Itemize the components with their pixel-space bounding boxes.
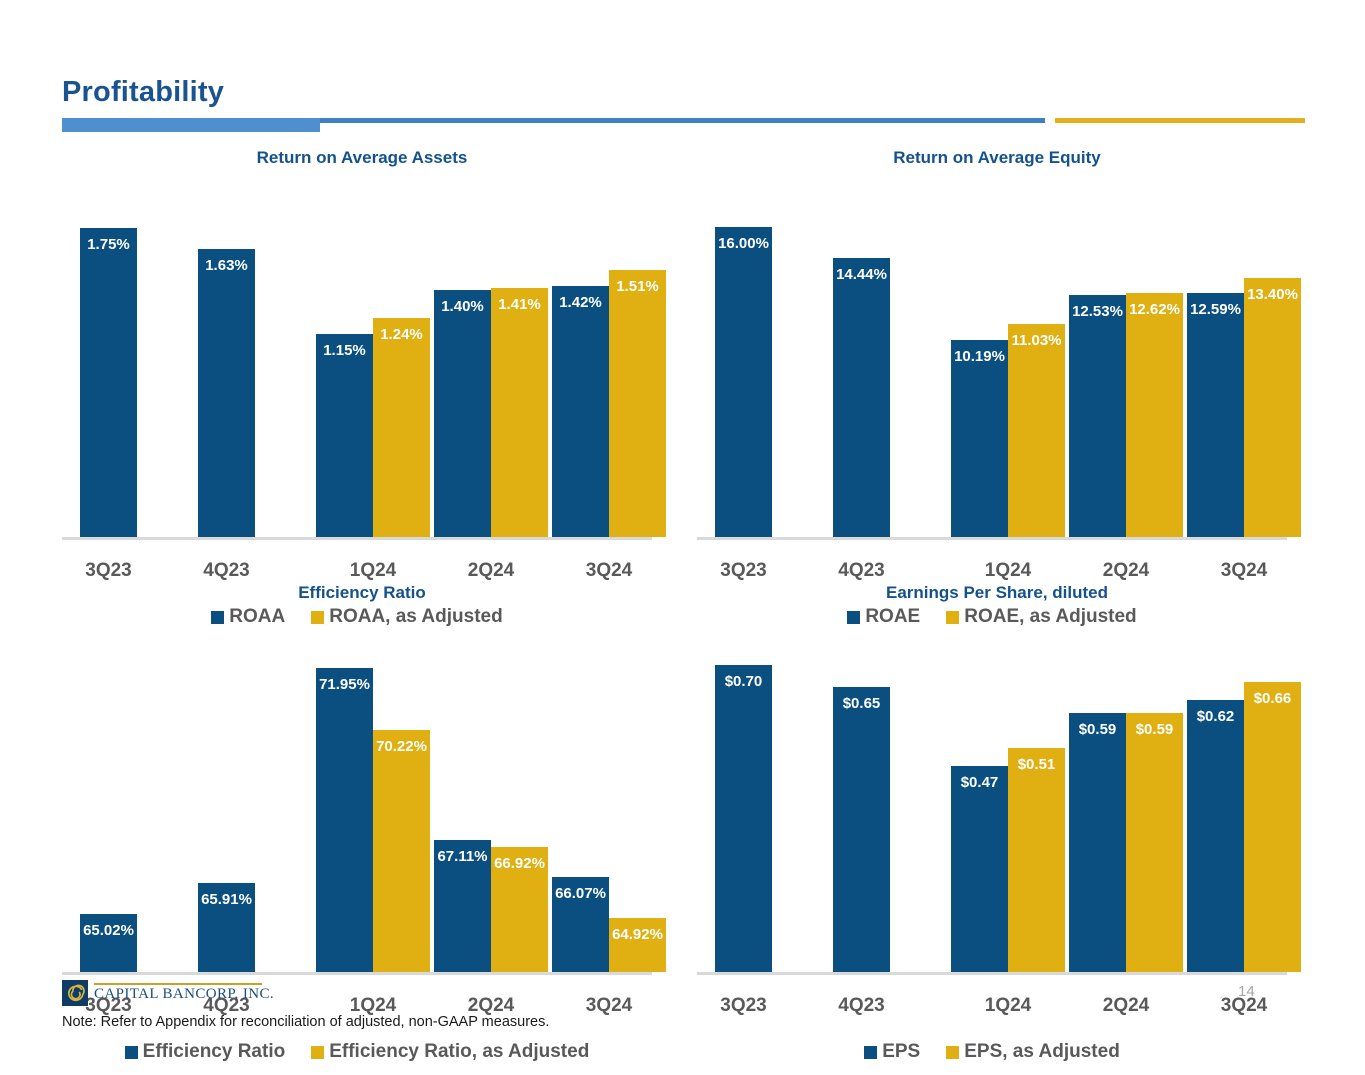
bar-group-3q23: 1.75%: [80, 207, 137, 537]
bar-value-label: 1.15%: [316, 343, 373, 358]
x-axis-label-3q24: 3Q24: [1194, 560, 1294, 582]
legend-label: EPS: [882, 1041, 920, 1063]
legend-item-base[interactable]: Efficiency Ratio: [125, 1041, 286, 1063]
legend-swatch-icon: [311, 1046, 324, 1059]
chart-title-roae: Return on Average Equity: [697, 148, 1297, 168]
footnote: Note: Refer to Appendix for reconciliati…: [62, 1014, 549, 1030]
x-axis-label-2q24: 2Q24: [441, 560, 541, 582]
x-axis-label-3q24: 3Q24: [559, 560, 659, 582]
chart-title-efficiency: Efficiency Ratio: [62, 583, 662, 603]
bar-value-label: 12.62%: [1126, 302, 1183, 317]
legend-item-base[interactable]: EPS: [864, 1041, 920, 1063]
x-axis-label-4q23: 4Q23: [177, 560, 277, 582]
plot-area-eps: $0.70$0.65$0.47$0.51$0.59$0.59$0.62$0.66: [697, 645, 1287, 975]
bar-value-label: 1.24%: [373, 327, 430, 342]
bar-group-1q24: 71.95%70.22%: [316, 642, 430, 972]
bar-value-label: 10.19%: [951, 349, 1008, 364]
bar-group-2q24: 67.11%66.92%: [434, 642, 548, 972]
header-rule-thick-blue: [62, 118, 320, 132]
x-axis-label-2q24: 2Q24: [1076, 995, 1176, 1017]
bar-eps-1q24-base[interactable]: $0.47: [951, 766, 1008, 972]
bar-group-1q24: 10.19%11.03%: [951, 207, 1065, 537]
bar-value-label: 12.59%: [1187, 302, 1244, 317]
x-axis-label-3q23: 3Q23: [694, 995, 794, 1017]
bar-value-label: $0.65: [833, 696, 890, 711]
bar-group-2q24: $0.59$0.59: [1069, 642, 1183, 972]
bar-eps-3q24-adjusted[interactable]: $0.66: [1244, 682, 1301, 972]
bar-group-3q23: $0.70: [715, 642, 772, 972]
bar-value-label: 1.40%: [434, 299, 491, 314]
bar-value-label: 1.63%: [198, 258, 255, 273]
bar-eps-2q24-base[interactable]: $0.59: [1069, 713, 1126, 972]
bar-roaa-3q23-base[interactable]: 1.75%: [80, 228, 137, 537]
legend-item-adjusted[interactable]: EPS, as Adjusted: [946, 1041, 1120, 1063]
bar-efficiency-3q24-base[interactable]: 66.07%: [552, 877, 609, 972]
bar-value-label: $0.59: [1126, 722, 1183, 737]
page-title: Profitability: [62, 76, 224, 109]
x-axis-label-3q23: 3Q23: [59, 560, 159, 582]
x-axis-line: [697, 972, 1287, 975]
bar-efficiency-3q24-adjusted[interactable]: 64.92%: [609, 918, 666, 972]
chart-legend-efficiency: Efficiency RatioEfficiency Ratio, as Adj…: [62, 1041, 652, 1063]
bar-roaa-3q24-base[interactable]: 1.42%: [552, 286, 609, 537]
bar-efficiency-2q24-base[interactable]: 67.11%: [434, 840, 491, 972]
bar-roae-1q24-adjusted[interactable]: 11.03%: [1008, 324, 1065, 537]
bar-efficiency-3q23-base[interactable]: 65.02%: [80, 914, 137, 972]
chart-legend-eps: EPSEPS, as Adjusted: [697, 1041, 1287, 1063]
bar-value-label: 1.41%: [491, 297, 548, 312]
bar-value-label: 12.53%: [1069, 304, 1126, 319]
bar-value-label: $0.51: [1008, 757, 1065, 772]
bar-group-4q23: 65.91%: [198, 642, 255, 972]
header-rule-thin-gold: [1055, 118, 1305, 123]
bar-efficiency-1q24-adjusted[interactable]: 70.22%: [373, 730, 430, 972]
plot-area-roae: 16.00%14.44%10.19%11.03%12.53%12.62%12.5…: [697, 210, 1287, 540]
bar-value-label: 71.95%: [316, 677, 373, 692]
bar-value-label: 14.44%: [833, 267, 890, 282]
bar-roaa-2q24-base[interactable]: 1.40%: [434, 290, 491, 537]
x-axis-line: [62, 537, 652, 540]
logo-divider: [94, 983, 262, 985]
chart-title-roaa: Return on Average Assets: [62, 148, 662, 168]
x-axis-label-1q24: 1Q24: [958, 995, 1058, 1017]
bar-group-3q23: 16.00%: [715, 207, 772, 537]
bar-value-label: $0.70: [715, 674, 772, 689]
bar-roae-3q24-base[interactable]: 12.59%: [1187, 293, 1244, 537]
legend-item-adjusted[interactable]: Efficiency Ratio, as Adjusted: [311, 1041, 589, 1063]
legend-label: Efficiency Ratio: [143, 1041, 286, 1063]
legend-label: EPS, as Adjusted: [964, 1041, 1120, 1063]
bar-group-1q24: $0.47$0.51: [951, 642, 1065, 972]
page-number: 14: [1238, 983, 1255, 1000]
chart-panel-roae: Return on Average Equity16.00%14.44%10.1…: [697, 148, 1297, 640]
bar-group-3q23: 65.02%: [80, 642, 137, 972]
bar-value-label: 64.92%: [609, 927, 666, 942]
bar-value-label: 67.11%: [434, 849, 491, 864]
bar-group-3q24: 66.07%64.92%: [552, 642, 666, 972]
bar-eps-1q24-adjusted[interactable]: $0.51: [1008, 748, 1065, 972]
bar-eps-2q24-adjusted[interactable]: $0.59: [1126, 713, 1183, 972]
bar-roae-4q23-base[interactable]: 14.44%: [833, 258, 890, 537]
bar-value-label: 1.51%: [609, 279, 666, 294]
chart-panel-roaa: Return on Average Assets1.75%1.63%1.15%1…: [62, 148, 662, 640]
spiral-c-mark-icon: [62, 980, 88, 1006]
legend-label: Efficiency Ratio, as Adjusted: [329, 1041, 589, 1063]
bar-group-1q24: 1.15%1.24%: [316, 207, 430, 537]
bar-value-label: $0.62: [1187, 709, 1244, 724]
x-axis-label-3q23: 3Q23: [694, 560, 794, 582]
bar-roaa-1q24-adjusted[interactable]: 1.24%: [373, 318, 430, 537]
bar-value-label: 66.92%: [491, 856, 548, 871]
plot-area-roaa: 1.75%1.63%1.15%1.24%1.40%1.41%1.42%1.51%: [62, 210, 652, 540]
plot-area-efficiency: 65.02%65.91%71.95%70.22%67.11%66.92%66.0…: [62, 645, 652, 975]
bar-efficiency-2q24-adjusted[interactable]: 66.92%: [491, 847, 548, 972]
bar-group-4q23: 14.44%: [833, 207, 890, 537]
bar-group-3q24: $0.62$0.66: [1187, 642, 1301, 972]
x-axis-label-4q23: 4Q23: [812, 995, 912, 1017]
bar-value-label: 11.03%: [1008, 333, 1065, 348]
bar-eps-3q24-base[interactable]: $0.62: [1187, 700, 1244, 972]
header-rule-thin-blue: [320, 118, 1045, 123]
bar-value-label: 13.40%: [1244, 287, 1301, 302]
bar-roaa-1q24-base[interactable]: 1.15%: [316, 334, 373, 537]
bar-value-label: 70.22%: [373, 739, 430, 754]
bar-value-label: $0.47: [951, 775, 1008, 790]
bar-value-label: $0.59: [1069, 722, 1126, 737]
bar-roaa-2q24-adjusted[interactable]: 1.41%: [491, 288, 548, 537]
legend-swatch-icon: [864, 1046, 877, 1059]
x-axis-label-4q23: 4Q23: [812, 560, 912, 582]
chart-title-eps: Earnings Per Share, diluted: [697, 583, 1297, 603]
bar-group-4q23: $0.65: [833, 642, 890, 972]
bar-value-label: 1.75%: [80, 237, 137, 252]
bar-group-3q24: 12.59%13.40%: [1187, 207, 1301, 537]
bar-roae-1q24-base[interactable]: 10.19%: [951, 340, 1008, 537]
chart-panel-eps: Earnings Per Share, diluted$0.70$0.65$0.…: [697, 583, 1297, 1075]
bar-eps-4q23-base[interactable]: $0.65: [833, 687, 890, 972]
bar-eps-3q23-base[interactable]: $0.70: [715, 665, 772, 972]
bar-efficiency-1q24-base[interactable]: 71.95%: [316, 668, 373, 972]
x-axis-label-2q24: 2Q24: [1076, 560, 1176, 582]
bar-roae-2q24-adjusted[interactable]: 12.62%: [1126, 293, 1183, 537]
bar-value-label: 66.07%: [552, 886, 609, 901]
x-axis-label-1q24: 1Q24: [323, 560, 423, 582]
x-axis-line: [62, 972, 652, 975]
bar-roaa-3q24-adjusted[interactable]: 1.51%: [609, 270, 666, 537]
bar-value-label: 65.02%: [80, 923, 137, 938]
bar-value-label: 1.42%: [552, 295, 609, 310]
logo-wordmark: CAPITAL BANCORP, INC.: [94, 986, 274, 1003]
bar-value-label: $0.66: [1244, 691, 1301, 706]
bar-group-4q23: 1.63%: [198, 207, 255, 537]
company-logo: CAPITAL BANCORP, INC.: [62, 980, 274, 1006]
bar-roae-2q24-base[interactable]: 12.53%: [1069, 295, 1126, 537]
x-axis-line: [697, 537, 1287, 540]
bar-efficiency-4q23-base[interactable]: 65.91%: [198, 883, 255, 972]
bar-group-2q24: 12.53%12.62%: [1069, 207, 1183, 537]
x-axis-label-1q24: 1Q24: [958, 560, 1058, 582]
legend-swatch-icon: [946, 1046, 959, 1059]
bar-roaa-4q23-base[interactable]: 1.63%: [198, 249, 255, 537]
bar-roae-3q23-base[interactable]: 16.00%: [715, 227, 772, 537]
bar-value-label: 65.91%: [198, 892, 255, 907]
bar-group-3q24: 1.42%1.51%: [552, 207, 666, 537]
bar-group-2q24: 1.40%1.41%: [434, 207, 548, 537]
bar-roae-3q24-adjusted[interactable]: 13.40%: [1244, 278, 1301, 537]
bar-value-label: 16.00%: [715, 236, 772, 251]
x-axis-label-3q24: 3Q24: [559, 995, 659, 1017]
legend-swatch-icon: [125, 1046, 138, 1059]
